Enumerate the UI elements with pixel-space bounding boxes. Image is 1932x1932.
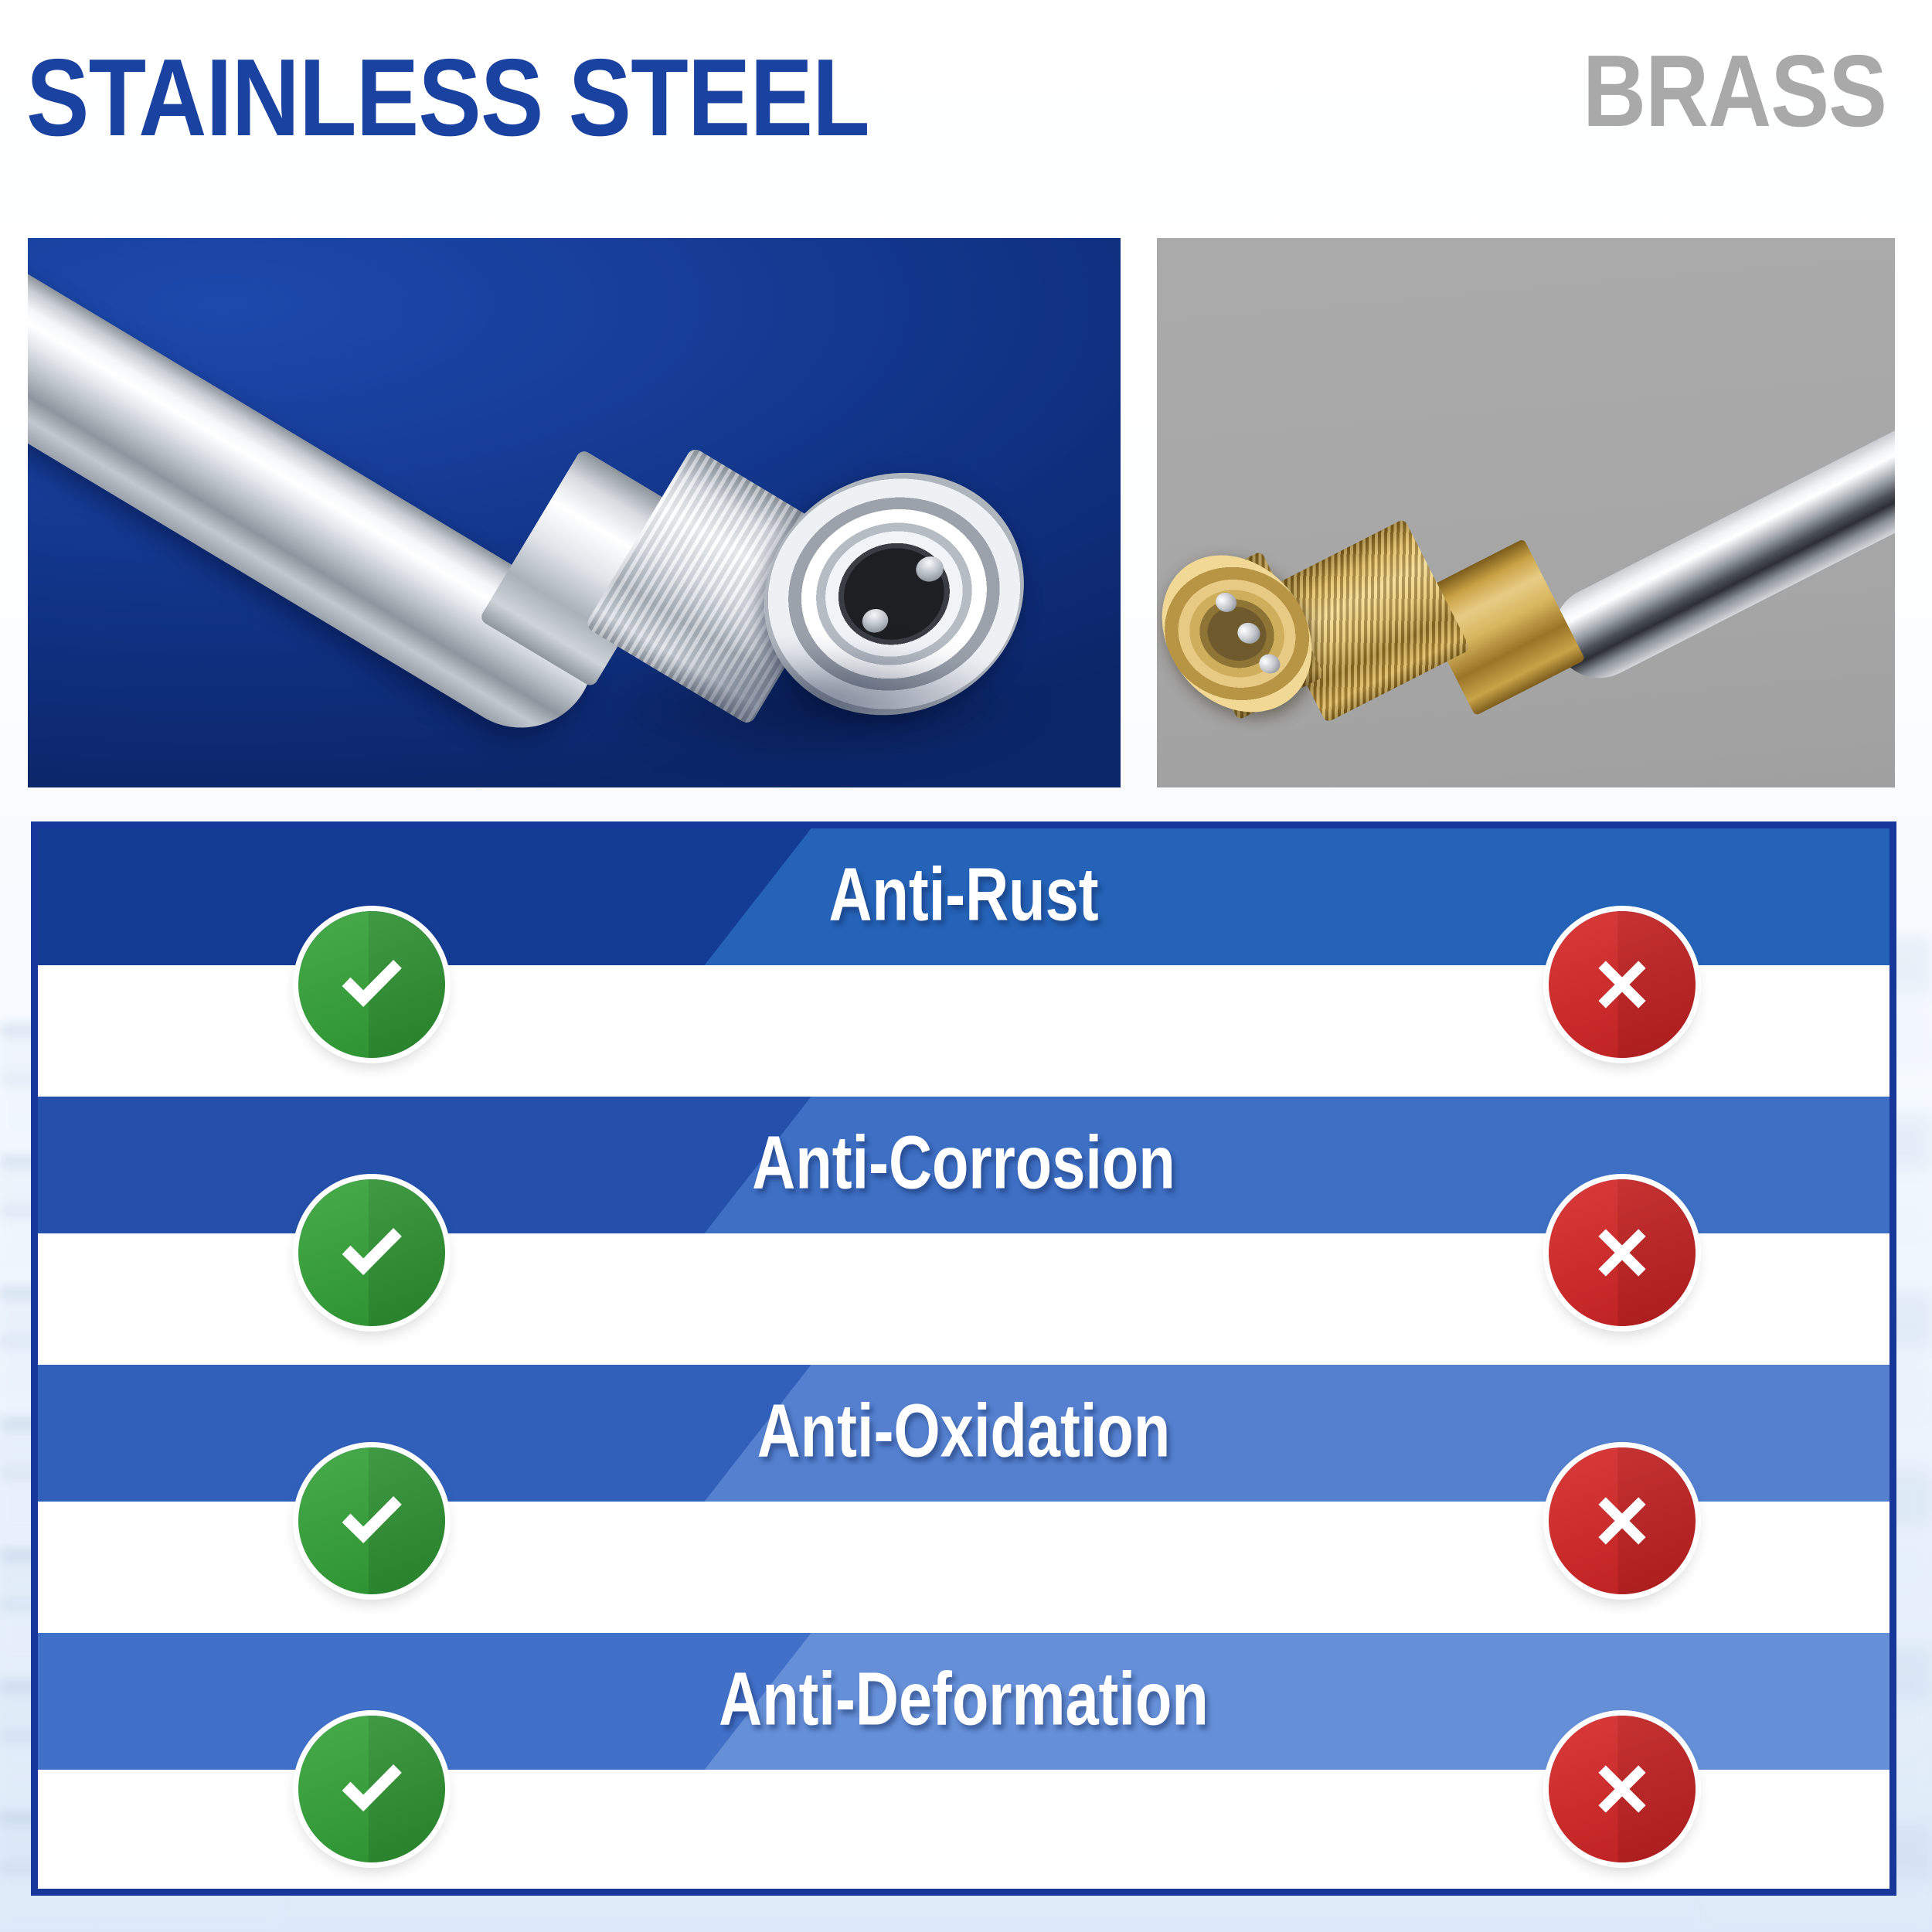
comparison-table: Anti-Rust Anti-Corrosion Anti-Oxidation … [31, 821, 1896, 1896]
stainless-steel-title: STAINLESS STEEL [26, 43, 869, 153]
steel-ball-bearing [1256, 651, 1284, 677]
steel-ball-bearing [911, 553, 948, 587]
feature-label: Anti-Rust [223, 856, 1705, 931]
brass-product-image [1157, 238, 1895, 787]
cross-icon [1549, 1179, 1696, 1326]
check-icon [298, 911, 445, 1058]
feature-label: Anti-Deformation [223, 1661, 1705, 1736]
check-icon [298, 1447, 445, 1594]
steel-lance-shape [28, 238, 621, 755]
cross-icon [1549, 1716, 1696, 1862]
steel-coupler-face-shape [716, 433, 1072, 756]
stainless-steel-product-image [28, 238, 1121, 787]
check-icon [298, 1179, 445, 1326]
feature-label: Anti-Oxidation [223, 1393, 1705, 1468]
steel-lance-shape [1538, 374, 1895, 694]
brass-title: BRASS [1583, 40, 1886, 142]
feature-label: Anti-Corrosion [223, 1124, 1705, 1199]
cross-icon [1549, 1447, 1696, 1594]
cross-icon [1549, 911, 1696, 1058]
check-icon [298, 1716, 445, 1862]
steel-ball-bearing [857, 605, 893, 637]
steel-ball-bearing [1234, 620, 1264, 647]
steel-ball-bearing [1212, 590, 1240, 615]
